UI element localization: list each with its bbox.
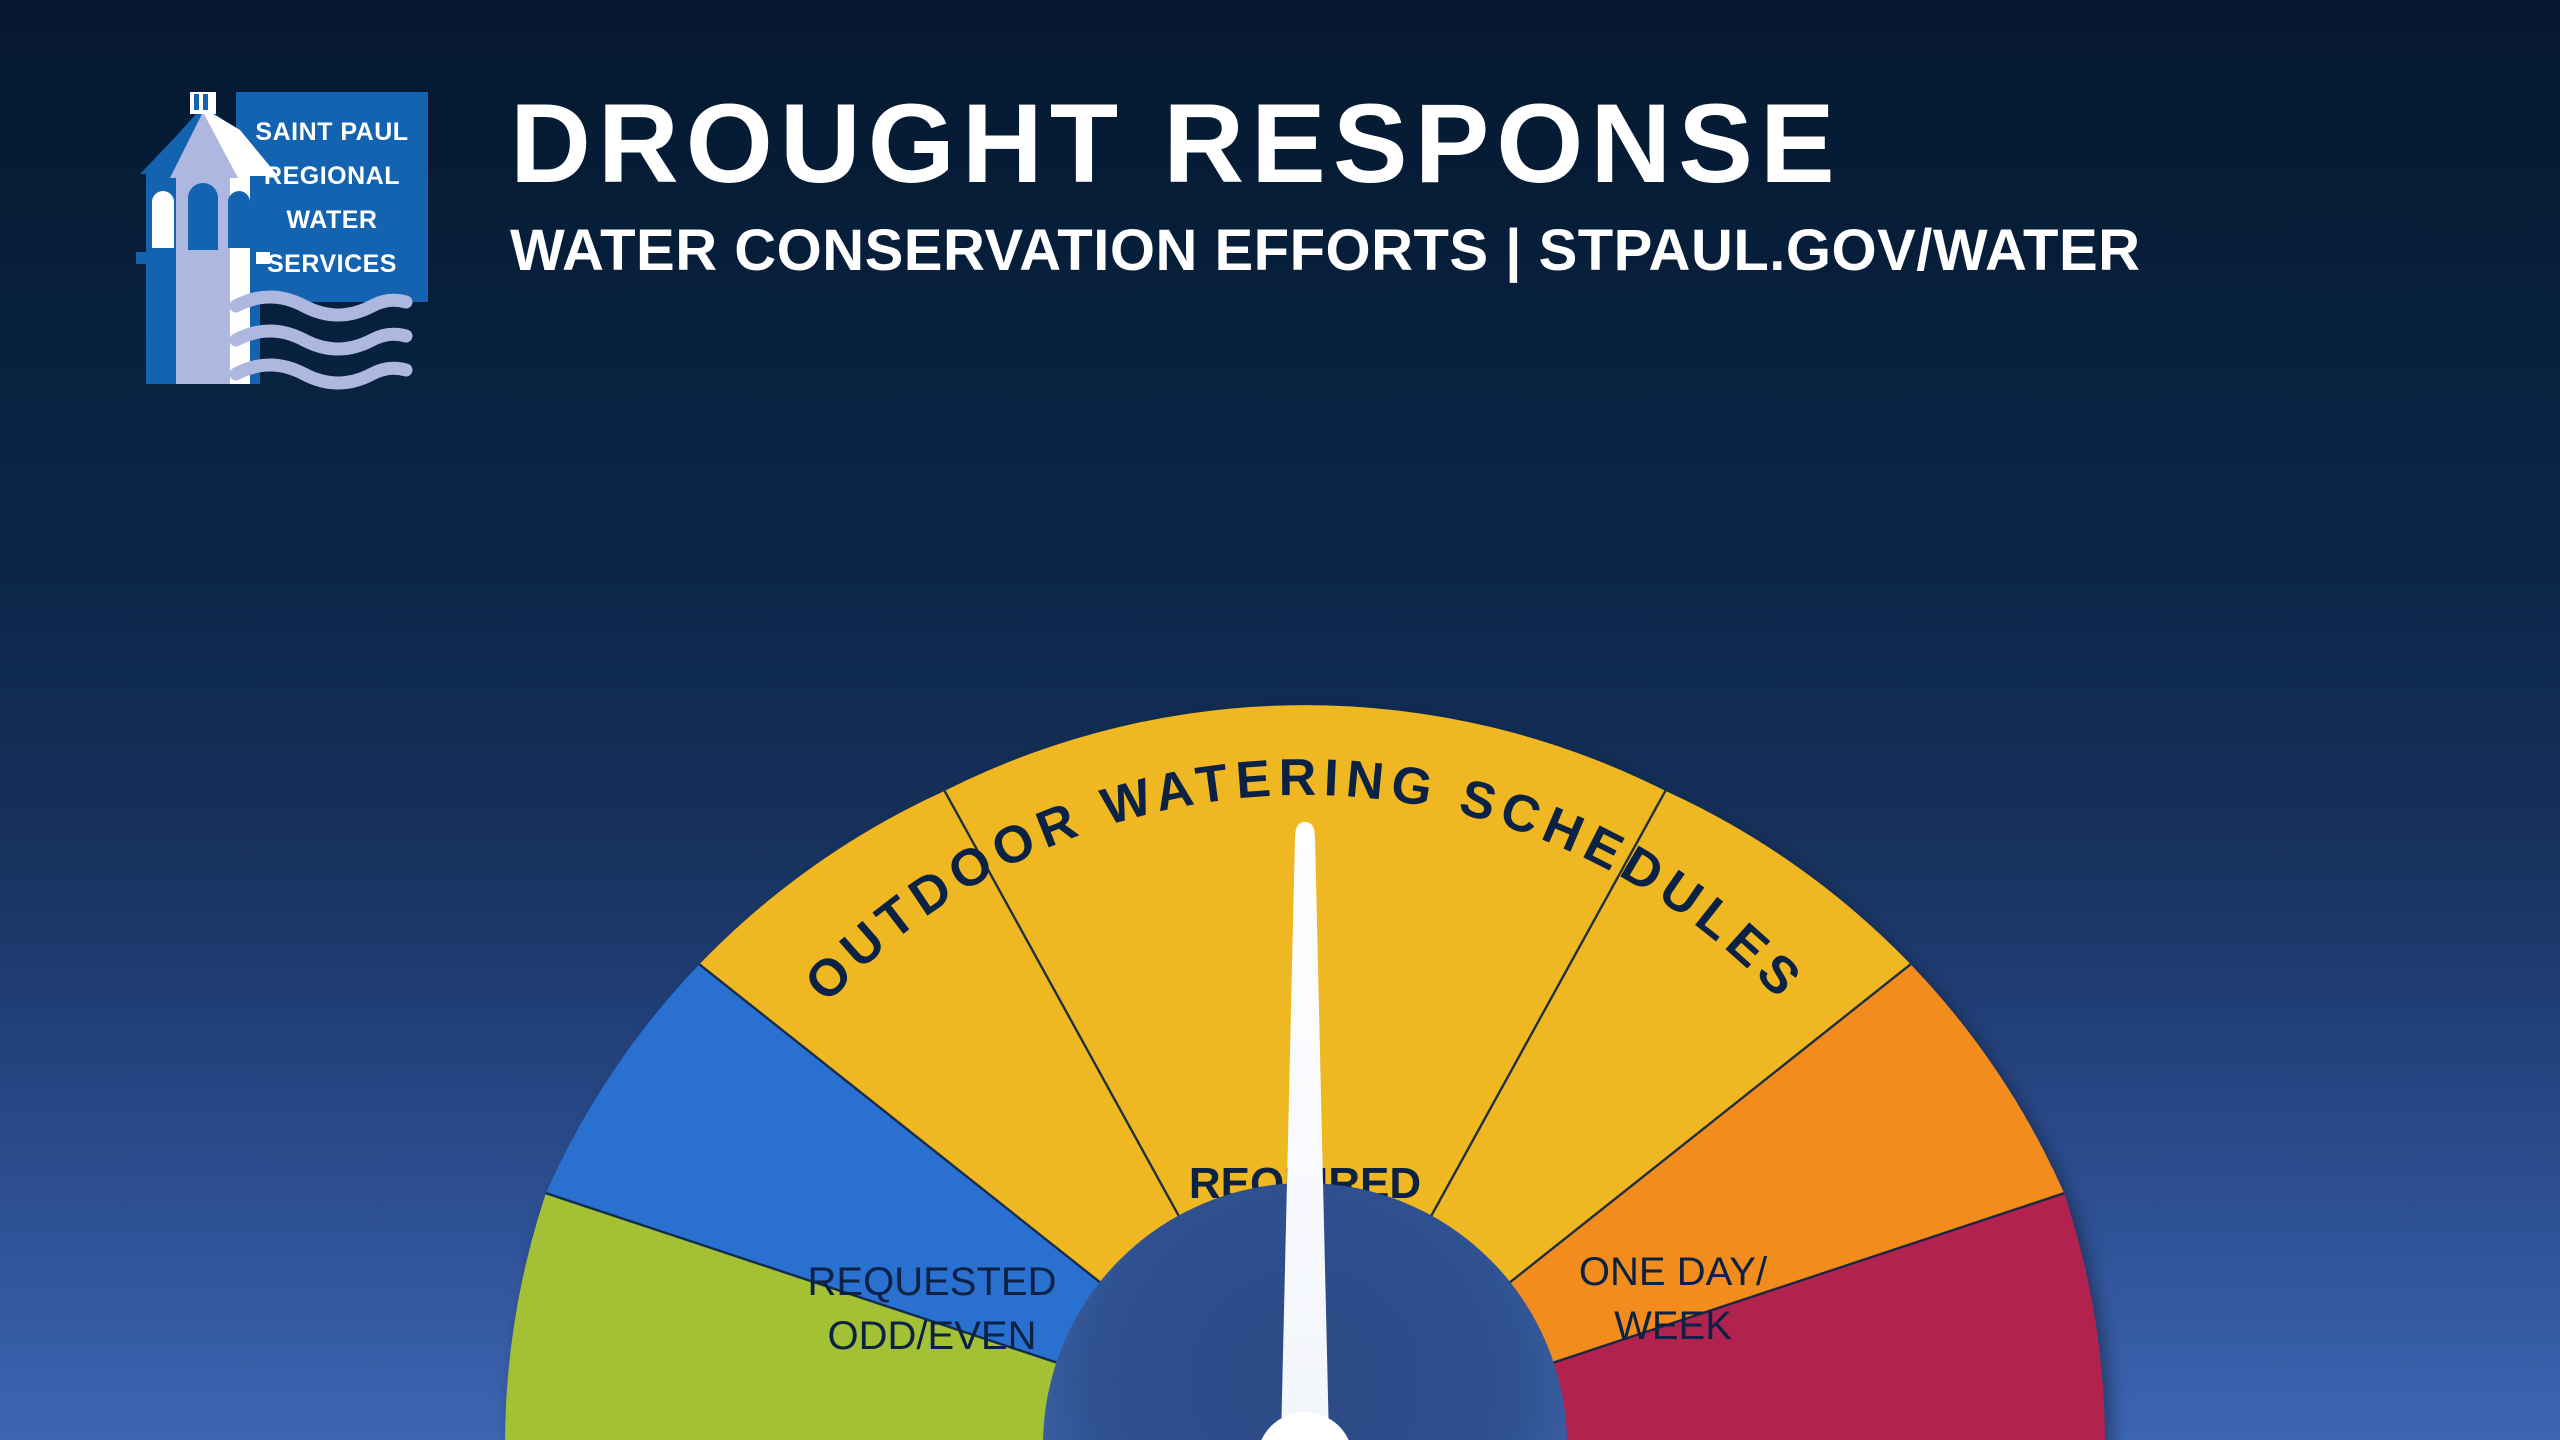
logo-line-4: SERVICES (236, 252, 428, 277)
logo-line-2: REGIONAL (236, 164, 428, 189)
logo-line-3: WATER (236, 208, 428, 233)
label-line-2: WEEK (1614, 1304, 1732, 1348)
label-line-2: ODD/EVEN (828, 1314, 1037, 1358)
label-line-1: REQUESTED (808, 1260, 1057, 1304)
header: SAINT PAUL REGIONAL WATER SERVICES DROUG… (0, 0, 2560, 440)
page-title: DROUGHT RESPONSE (510, 88, 2470, 200)
title-block: DROUGHT RESPONSE WATER CONSERVATION EFFO… (510, 88, 2470, 280)
page-subtitle: WATER CONSERVATION EFFORTS | STPAUL.GOV/… (510, 222, 2470, 280)
logo-line-1: SAINT PAUL (236, 120, 428, 145)
drought-gauge: OUTDOOR WATERING SCHEDULES NO RESTRICTIO… (0, 440, 2560, 1440)
gauge-svg: OUTDOOR WATERING SCHEDULES NO RESTRICTIO… (0, 440, 2560, 1440)
drought-response-infographic: SAINT PAUL REGIONAL WATER SERVICES DROUG… (0, 0, 2560, 1440)
label-line-1: ONE DAY/ (1579, 1250, 1768, 1294)
srws-logo: SAINT PAUL REGIONAL WATER SERVICES (128, 92, 428, 392)
